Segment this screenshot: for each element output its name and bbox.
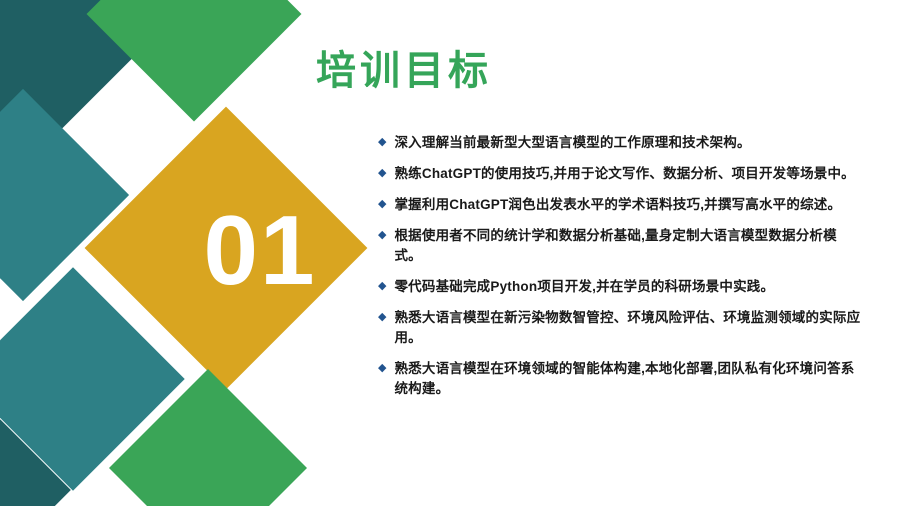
list-item: ◆ 深入理解当前最新型大型语言模型的工作原理和技术架构。 <box>378 133 864 153</box>
list-item: ◆ 掌握利用ChatGPT润色出发表水平的学术语料技巧,并撰写高水平的综述。 <box>378 195 864 215</box>
diamond-bullet-icon: ◆ <box>378 133 386 152</box>
diamond-bullet-icon: ◆ <box>378 226 386 245</box>
list-item-text: 深入理解当前最新型大型语言模型的工作原理和技术架构。 <box>394 133 864 153</box>
list-item: ◆ 熟悉大语言模型在新污染物数智管控、环境风险评估、环境监测领域的实际应用。 <box>378 308 864 348</box>
diamond-bullet-icon: ◆ <box>378 164 386 183</box>
list-item: ◆ 熟练ChatGPT的使用技巧,并用于论文写作、数据分析、项目开发等场景中。 <box>378 164 864 184</box>
list-item-text: 零代码基础完成Python项目开发,并在学员的科研场景中实践。 <box>394 277 864 297</box>
list-item: ◆ 根据使用者不同的统计学和数据分析基础,量身定制大语言模型数据分析模式。 <box>378 226 864 266</box>
list-item-text: 熟悉大语言模型在环境领域的智能体构建,本地化部署,团队私有化环境问答系统构建。 <box>394 359 864 399</box>
list-item: ◆ 熟悉大语言模型在环境领域的智能体构建,本地化部署,团队私有化环境问答系统构建… <box>378 359 864 399</box>
list-item: ◆ 零代码基础完成Python项目开发,并在学员的科研场景中实践。 <box>378 277 864 297</box>
diamond-bullet-icon: ◆ <box>378 195 386 214</box>
page-title: 培训目标 <box>316 38 492 96</box>
diamond-bullet-icon: ◆ <box>378 308 386 327</box>
list-item-text: 熟悉大语言模型在新污染物数智管控、环境风险评估、环境监测领域的实际应用。 <box>394 308 864 348</box>
slide: 01 培训目标 ◆ 深入理解当前最新型大型语言模型的工作原理和技术架构。 ◆ 熟… <box>0 0 900 506</box>
diamond-bullet-icon: ◆ <box>378 359 386 378</box>
list-item-text: 根据使用者不同的统计学和数据分析基础,量身定制大语言模型数据分析模式。 <box>394 226 864 266</box>
objectives-list: ◆ 深入理解当前最新型大型语言模型的工作原理和技术架构。 ◆ 熟练ChatGPT… <box>378 133 864 410</box>
diamond-bullet-icon: ◆ <box>378 277 386 296</box>
list-item-text: 掌握利用ChatGPT润色出发表水平的学术语料技巧,并撰写高水平的综述。 <box>394 195 864 215</box>
list-item-text: 熟练ChatGPT的使用技巧,并用于论文写作、数据分析、项目开发等场景中。 <box>394 164 864 184</box>
section-number: 01 <box>160 190 360 310</box>
